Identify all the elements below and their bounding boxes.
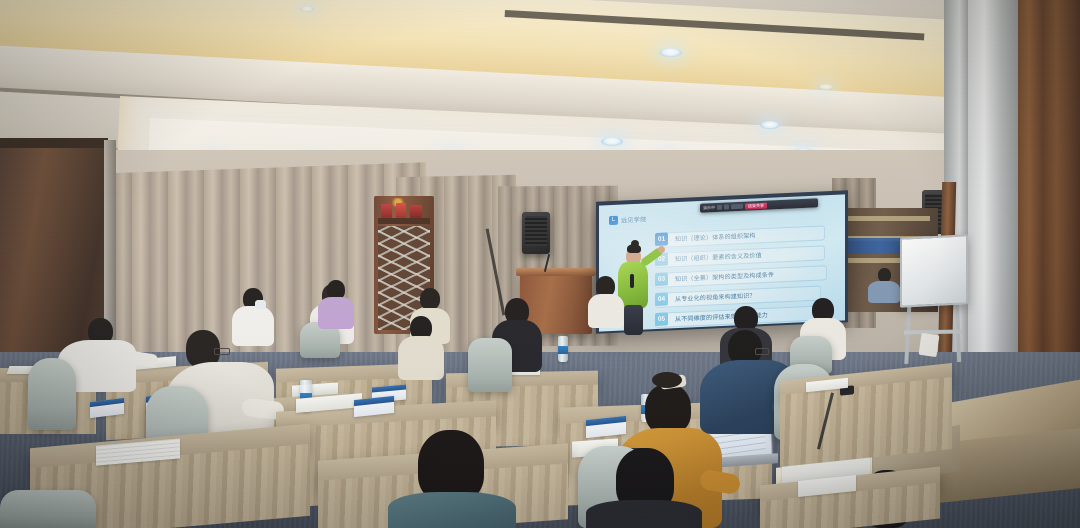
attendee-body bbox=[868, 281, 900, 303]
agenda-number-badge: 01 bbox=[655, 232, 668, 246]
speaker-grill-icon bbox=[525, 216, 547, 246]
cabinet-shelf bbox=[378, 218, 430, 224]
presentation-status-label: 演示中 bbox=[703, 203, 715, 213]
downlight bbox=[659, 48, 682, 57]
chair[interactable] bbox=[468, 338, 512, 392]
door-header-strip bbox=[0, 138, 108, 148]
face-mask-icon bbox=[255, 300, 266, 309]
microphone-icon bbox=[630, 274, 634, 288]
presenter-pants bbox=[624, 305, 643, 335]
agenda-label: 知识（全景）架构的类型及构成条件 bbox=[675, 270, 774, 284]
downlight bbox=[818, 84, 834, 90]
attendee-head bbox=[645, 384, 691, 434]
glasses-icon bbox=[214, 348, 230, 355]
agenda-label: 从专业化的视角来构建知识？ bbox=[675, 290, 756, 303]
attendee-body bbox=[398, 336, 444, 380]
control-icon[interactable] bbox=[724, 204, 729, 209]
slide-logo-icon: L bbox=[609, 216, 618, 225]
downlight bbox=[601, 137, 623, 146]
podium-top bbox=[516, 268, 596, 276]
agenda-number-badge: 04 bbox=[655, 292, 668, 306]
attendee-body bbox=[388, 492, 516, 528]
chair[interactable] bbox=[28, 358, 76, 430]
stop-share-button[interactable]: 结束共享 bbox=[745, 202, 767, 209]
conference-room-photo: L 远见学院 01 知识（理论）体系的组织架构 02 知识（组织）要素的含义及价… bbox=[0, 0, 1080, 528]
hair-bun bbox=[652, 372, 682, 388]
attendee-body bbox=[318, 297, 354, 329]
attendee-head bbox=[420, 288, 440, 310]
control-icon[interactable] bbox=[717, 205, 722, 210]
attendee-head bbox=[878, 268, 891, 282]
bottle-label bbox=[558, 346, 568, 354]
whiteboard-flipchart bbox=[900, 234, 968, 308]
gift-box bbox=[381, 204, 392, 218]
chair[interactable] bbox=[0, 490, 96, 528]
whiteboard-cloth bbox=[919, 333, 940, 357]
downlight bbox=[300, 6, 314, 12]
slide-logo-text: 远见学院 bbox=[621, 214, 647, 224]
agenda-number-badge: 05 bbox=[655, 312, 668, 326]
gift-box bbox=[410, 205, 422, 218]
agenda-label: 知识（理论）体系的组织架构 bbox=[675, 230, 756, 243]
attendee-body bbox=[586, 500, 702, 528]
agenda-number-badge: 03 bbox=[655, 272, 668, 286]
control-icon[interactable] bbox=[731, 204, 743, 210]
downlight bbox=[760, 121, 780, 129]
presenter-hair-bun-knot bbox=[631, 240, 639, 247]
attendee-body bbox=[232, 306, 274, 346]
glasses-icon bbox=[755, 348, 769, 355]
attendee-body bbox=[588, 294, 624, 328]
presenter-hand bbox=[658, 246, 665, 253]
gift-box bbox=[396, 203, 406, 218]
agenda-label: 知识（组织）要素的含义及价值 bbox=[675, 250, 762, 263]
